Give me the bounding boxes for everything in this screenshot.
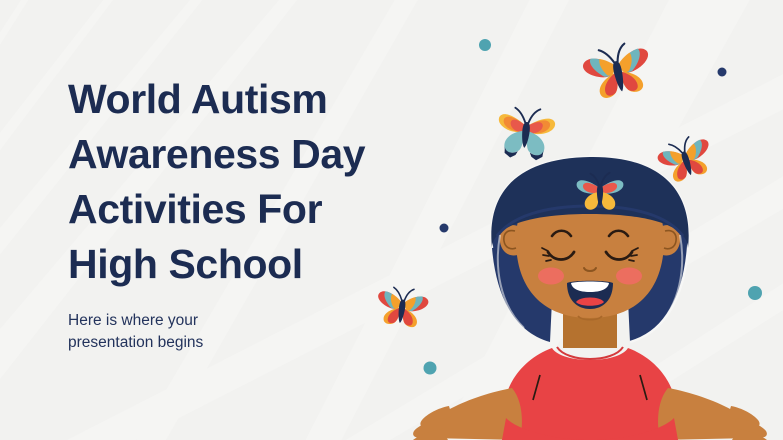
dot-navy-left: [440, 224, 449, 233]
title-line-4: High School: [68, 241, 303, 287]
dot-teal-lower: [424, 362, 437, 375]
subtitle-line-1: Here is where your: [68, 312, 198, 329]
cheek-right: [616, 268, 642, 285]
title-text-block: World Autism Awareness Day Activities Fo…: [68, 72, 418, 354]
butterfly-top-right: [580, 39, 655, 101]
title-line-1: World Autism: [68, 76, 327, 122]
cheek-left: [538, 268, 564, 285]
page-title: World Autism Awareness Day Activities Fo…: [68, 72, 418, 292]
page-subtitle: Here is where your presentation begins: [68, 310, 258, 354]
shirt: [502, 348, 678, 440]
title-line-2: Awareness Day: [68, 131, 365, 177]
dot-teal-top: [479, 39, 491, 51]
butterfly-mid-left: [495, 105, 557, 162]
dot-navy-top-right: [718, 68, 727, 77]
subtitle-line-2: presentation begins: [68, 334, 203, 351]
presentation-slide: World Autism Awareness Day Activities Fo…: [0, 0, 783, 440]
title-line-3: Activities For: [68, 186, 322, 232]
dot-teal-right: [748, 286, 762, 300]
